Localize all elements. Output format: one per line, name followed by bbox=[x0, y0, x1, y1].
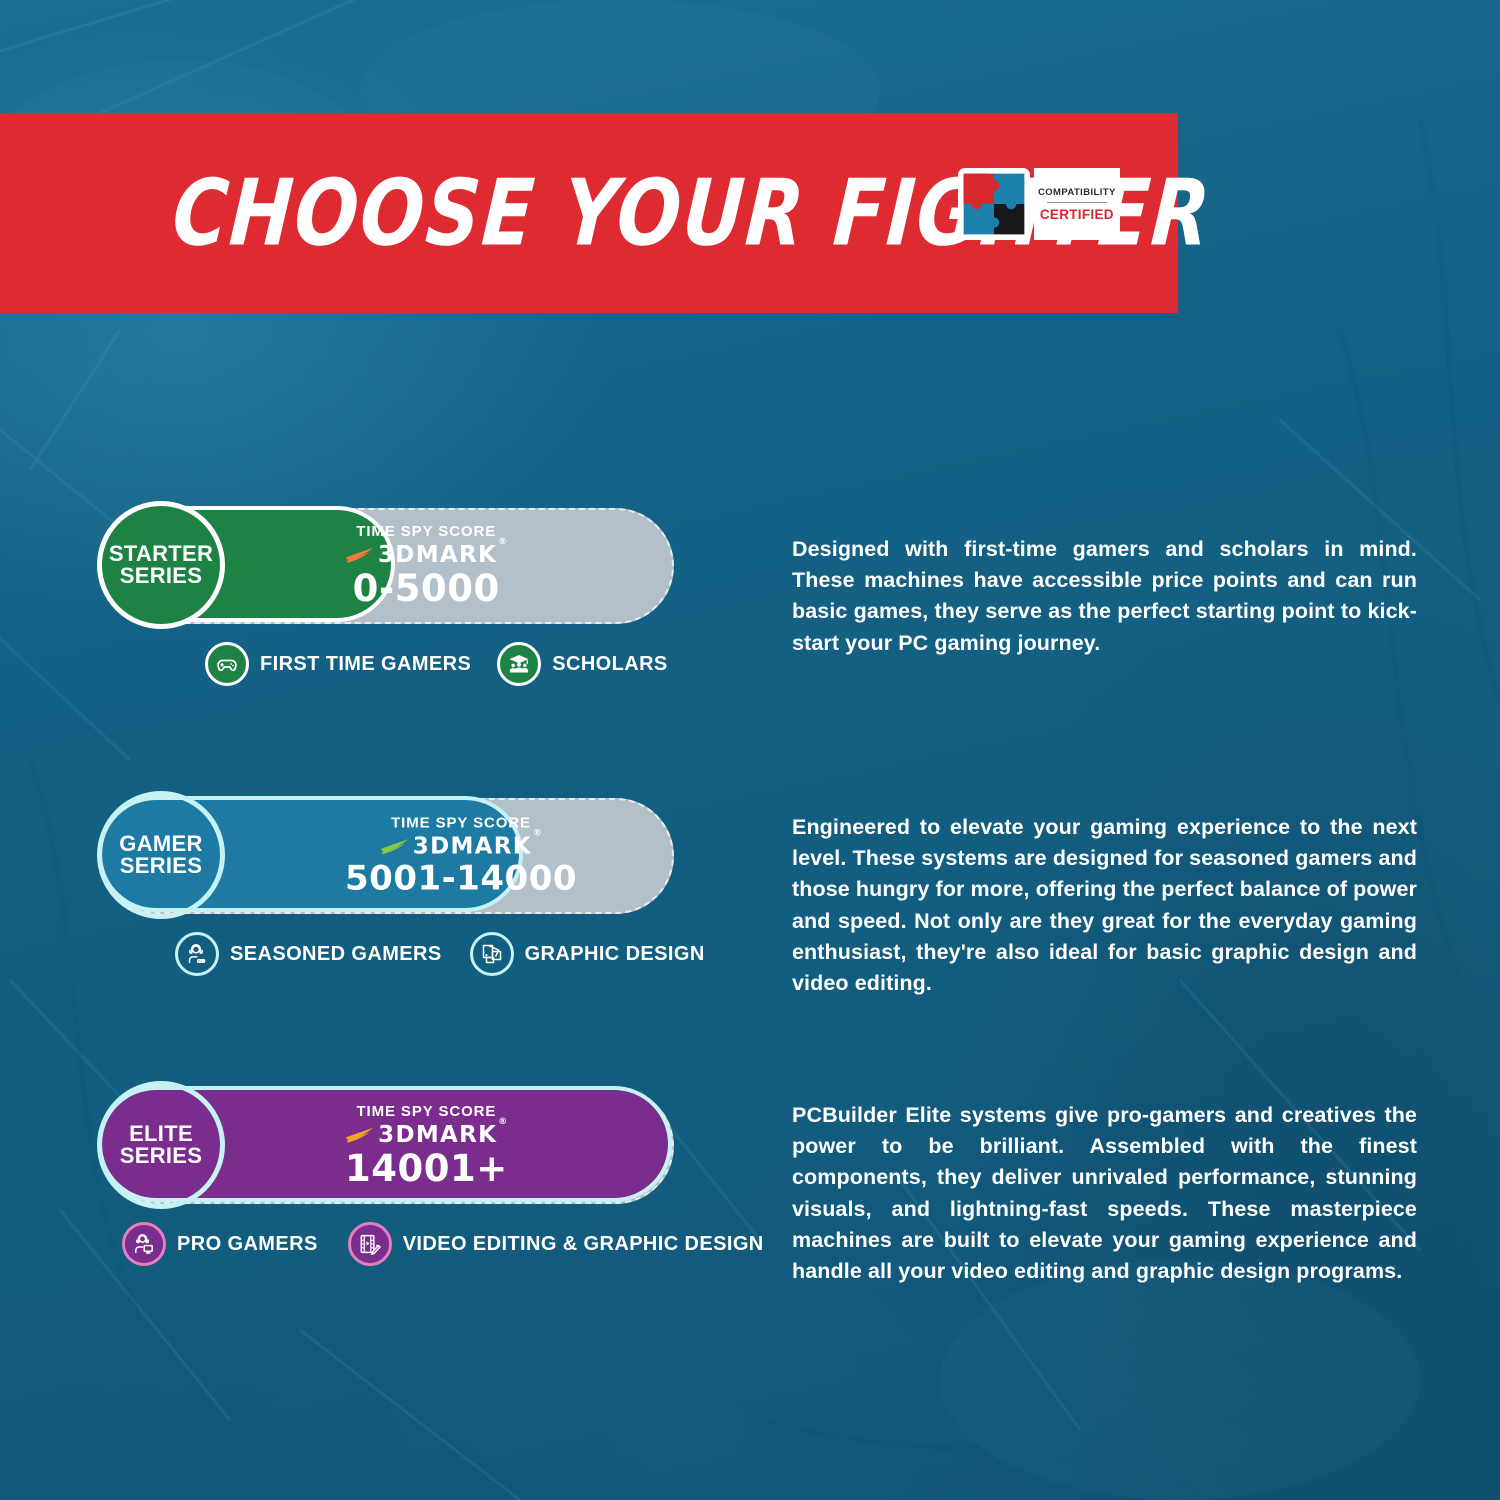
audience-label: PRO GAMERS bbox=[177, 1233, 318, 1256]
3dmark-logo: 3DMARK® bbox=[345, 541, 507, 567]
color-swatches-icon bbox=[470, 932, 514, 976]
score-track: ELITE SERIES TIME SPY SCORE 3DMARK® 1400… bbox=[100, 1088, 674, 1204]
3dmark-swoosh-icon bbox=[345, 545, 375, 564]
audience-label: SEASONED GAMERS bbox=[230, 943, 442, 966]
audience-row-starter: FIRST TIME GAMERS SCHOLARS bbox=[205, 642, 668, 686]
3dmark-swoosh-icon bbox=[345, 1125, 375, 1144]
score-label: TIME SPY SCORE bbox=[345, 524, 507, 541]
headset-gamer-icon bbox=[175, 932, 219, 976]
tier-description: Designed with first-time gamers and scho… bbox=[792, 534, 1417, 659]
certified-divider bbox=[1047, 202, 1108, 203]
audience-label: FIRST TIME GAMERS bbox=[260, 653, 471, 676]
audience-item[interactable]: PRO GAMERS bbox=[122, 1222, 318, 1266]
score-track: STARTER SERIES TIME SPY SCORE 3DMARK® 0-… bbox=[100, 508, 674, 624]
series-badge-elite[interactable]: ELITE SERIES bbox=[97, 1081, 225, 1209]
audience-item[interactable]: GRAPHIC DESIGN bbox=[470, 932, 705, 976]
score-value: 5001-14000 bbox=[345, 861, 577, 897]
audience-label: VIDEO EDITING & GRAPHIC DESIGN bbox=[403, 1233, 764, 1256]
certified-bottom-label: CERTIFIED bbox=[1040, 207, 1114, 222]
score-track: GAMER SERIES TIME SPY SCORE 3DMARK® 5001… bbox=[100, 798, 674, 914]
3dmark-wordmark: 3DMARK® bbox=[413, 833, 542, 859]
audience-row-gamer: SEASONED GAMERS GRAPHIC DESIGN bbox=[175, 932, 705, 976]
series-badge-gamer[interactable]: GAMER SERIES bbox=[97, 791, 225, 919]
3dmark-logo: 3DMARK® bbox=[345, 1121, 508, 1147]
3dmark-logo: 3DMARK® bbox=[345, 833, 577, 859]
score-value: 0-5000 bbox=[345, 569, 507, 608]
score-label: TIME SPY SCORE bbox=[345, 1104, 508, 1121]
puzzle-pieces-svg bbox=[961, 171, 1027, 237]
tier-gamer-description-wrap: Engineered to elevate your gaming experi… bbox=[792, 798, 1417, 999]
graduation-cap-people-icon bbox=[497, 642, 541, 686]
score-block-elite: TIME SPY SCORE 3DMARK® 14001+ bbox=[345, 1104, 508, 1188]
series-badge-line-2: SERIES bbox=[120, 855, 203, 877]
tier-elite-graphic: ELITE SERIES TIME SPY SCORE 3DMARK® 1400… bbox=[100, 1088, 720, 1204]
tier-description: Engineered to elevate your gaming experi… bbox=[792, 812, 1417, 999]
tier-elite-description-wrap: PCBuilder Elite systems give pro-gamers … bbox=[792, 1088, 1417, 1287]
audience-item[interactable]: SCHOLARS bbox=[497, 642, 667, 686]
audience-item[interactable]: FIRST TIME GAMERS bbox=[205, 642, 471, 686]
pro-gamer-monitor-icon bbox=[122, 1222, 166, 1266]
audience-item[interactable]: VIDEO EDITING & GRAPHIC DESIGN bbox=[348, 1222, 764, 1266]
gamepad-icon bbox=[205, 642, 249, 686]
series-badge-line-2: SERIES bbox=[120, 1145, 203, 1167]
film-pencil-icon bbox=[348, 1222, 392, 1266]
series-badge-line-1: STARTER bbox=[109, 543, 213, 565]
series-badge-line-1: ELITE bbox=[129, 1123, 193, 1145]
tier-starter-graphic: STARTER SERIES TIME SPY SCORE 3DMARK® 0-… bbox=[100, 508, 720, 624]
certified-plate: COMPATIBILITY CERTIFIED bbox=[1034, 168, 1120, 240]
certified-top-label: COMPATIBILITY bbox=[1038, 187, 1116, 198]
series-badge-line-2: SERIES bbox=[120, 565, 203, 587]
series-badge-starter[interactable]: STARTER SERIES bbox=[97, 501, 225, 629]
tier-gamer-graphic: GAMER SERIES TIME SPY SCORE 3DMARK® 5001… bbox=[100, 798, 720, 914]
audience-row-elite: PRO GAMERS VIDEO EDITING & GRAPHIC DESIG… bbox=[122, 1222, 764, 1266]
compatibility-certified-badge: COMPATIBILITY CERTIFIED bbox=[958, 168, 1106, 240]
score-value: 14001+ bbox=[345, 1149, 508, 1188]
audience-label: SCHOLARS bbox=[552, 653, 667, 676]
tier-description: PCBuilder Elite systems give pro-gamers … bbox=[792, 1100, 1417, 1287]
score-block-starter: TIME SPY SCORE 3DMARK® 0-5000 bbox=[345, 524, 507, 608]
3dmark-swoosh-icon bbox=[380, 836, 410, 855]
audience-item[interactable]: SEASONED GAMERS bbox=[175, 932, 442, 976]
audience-label: GRAPHIC DESIGN bbox=[525, 943, 705, 966]
tier-starter-description-wrap: Designed with first-time gamers and scho… bbox=[792, 508, 1417, 659]
3dmark-wordmark: 3DMARK® bbox=[378, 541, 507, 567]
puzzle-icon bbox=[958, 168, 1030, 240]
series-badge-line-1: GAMER bbox=[119, 833, 202, 855]
3dmark-wordmark: 3DMARK® bbox=[378, 1121, 507, 1147]
score-block-gamer: TIME SPY SCORE 3DMARK® 5001-14000 bbox=[345, 815, 577, 896]
